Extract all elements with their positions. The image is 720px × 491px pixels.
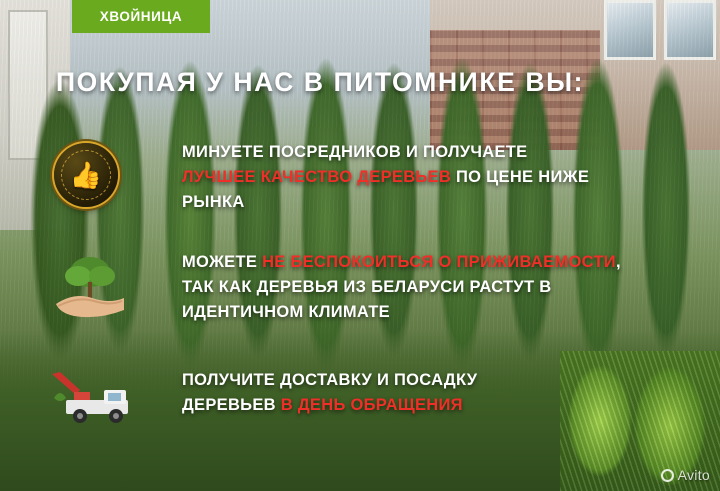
- sapling-svg: [48, 246, 132, 326]
- brand-badge-label: ХВОЙНИЦА: [100, 9, 182, 24]
- benefit-2-line1-post: ,: [616, 253, 621, 271]
- benefit-3-line2-pre: ДЕРЕВЬЕВ: [182, 396, 281, 414]
- crane-truck-icon: [46, 368, 142, 430]
- benefit-row-1-text: МИНУЕТЕ ПОСРЕДНИКОВ И ПОЛУЧАЕТЕ ЛУЧШЕЕ К…: [182, 140, 589, 215]
- page-title: ПОКУПАЯ У НАС В ПИТОМНИКЕ ВЫ:: [56, 67, 584, 98]
- gold-thumbs-up-seal-icon: 👍: [54, 143, 118, 207]
- benefit-row-2: МОЖЕТЕ НЕ БЕСПОКОИТЬСЯ О ПРИЖИВАЕМОСТИ, …: [182, 250, 702, 325]
- avito-watermark-text: Avito: [678, 467, 710, 483]
- thumbs-up-icon: 👍: [70, 162, 102, 188]
- benefit-row-2-text: МОЖЕТЕ НЕ БЕСПОКОИТЬСЯ О ПРИЖИВАЕМОСТИ, …: [182, 250, 621, 325]
- avito-watermark: Avito: [661, 467, 710, 483]
- benefit-row-3-text: ПОЛУЧИТЕ ДОСТАВКУ И ПОСАДКУ ДЕРЕВЬЕВ В Д…: [182, 368, 477, 418]
- benefit-3-line1: ПОЛУЧИТЕ ДОСТАВКУ И ПОСАДКУ: [182, 371, 477, 389]
- benefit-row-3: ПОЛУЧИТЕ ДОСТАВКУ И ПОСАДКУ ДЕРЕВЬЕВ В Д…: [182, 368, 582, 418]
- benefit-2-line3: ИДЕНТИЧНОМ КЛИМАТЕ: [182, 303, 390, 321]
- brand-badge: ХВОЙНИЦА: [72, 0, 210, 33]
- benefit-1-highlight: ЛУЧШЕЕ КАЧЕСТВО ДЕРЕВЬЕВ: [182, 168, 451, 186]
- benefit-row-1: МИНУЕТЕ ПОСРЕДНИКОВ И ПОЛУЧАЕТЕ ЛУЧШЕЕ К…: [182, 140, 702, 215]
- benefit-1-line2-rest: ПО ЦЕНЕ НИЖЕ: [451, 168, 589, 186]
- benefit-2-line2: ТАК КАК ДЕРЕВЬЯ ИЗ БЕЛАРУСИ РАСТУТ В: [182, 278, 551, 296]
- benefit-2-line1-pre: МОЖЕТЕ: [182, 253, 262, 271]
- benefit-1-line1: МИНУЕТЕ ПОСРЕДНИКОВ И ПОЛУЧАЕТЕ: [182, 143, 527, 161]
- promo-image: ХВОЙНИЦА ПОКУПАЯ У НАС В ПИТОМНИКЕ ВЫ: 👍…: [0, 0, 720, 491]
- benefit-3-highlight: В ДЕНЬ ОБРАЩЕНИЯ: [281, 396, 463, 414]
- circle-icon: [661, 469, 674, 482]
- crane-truck-svg: [46, 368, 142, 430]
- seal-inner-ring: 👍: [61, 150, 111, 200]
- benefit-2-highlight: НЕ БЕСПОКОИТЬСЯ О ПРИЖИВАЕМОСТИ: [262, 253, 616, 271]
- hand-holding-sapling-icon: [48, 246, 132, 326]
- benefit-1-line3: РЫНКА: [182, 193, 245, 211]
